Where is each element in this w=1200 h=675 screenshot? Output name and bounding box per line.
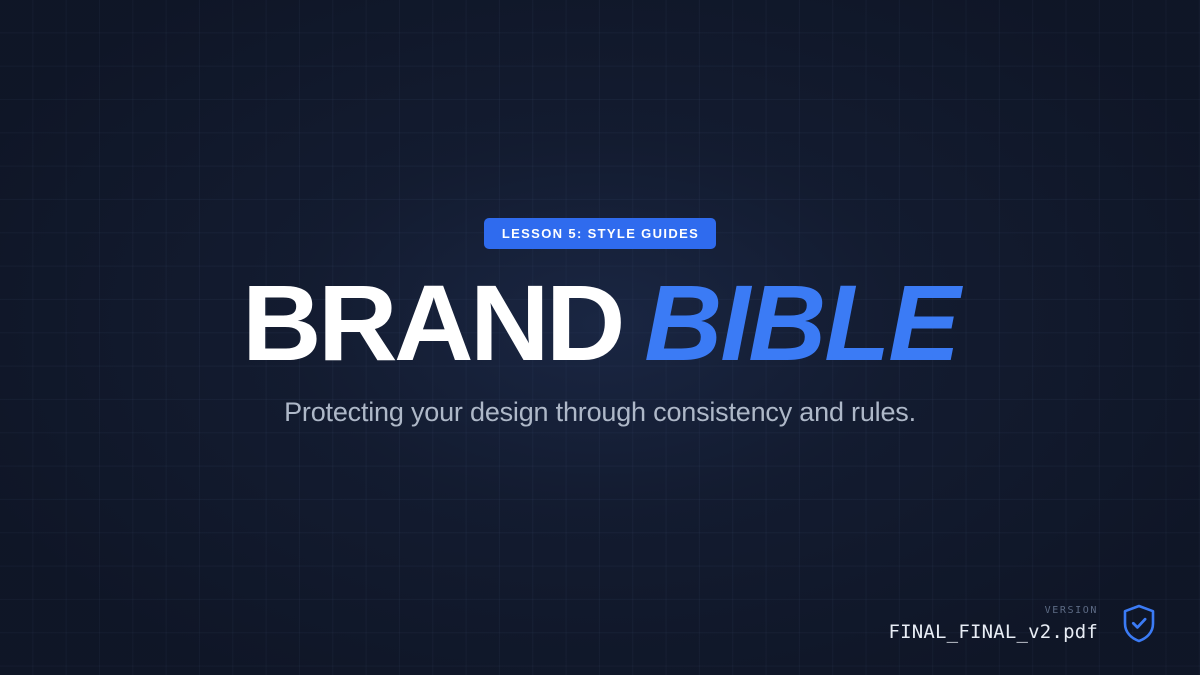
shield-check-icon bbox=[1122, 604, 1156, 643]
presentation-slide: LESSON 5: STYLE GUIDES BRAND BIBLE Prote… bbox=[0, 0, 1200, 675]
slide-content: LESSON 5: STYLE GUIDES BRAND BIBLE Prote… bbox=[0, 218, 1200, 428]
file-name: FINAL_FINAL_v2.pdf bbox=[888, 623, 1098, 642]
title-word-bible: BIBLE bbox=[644, 269, 958, 377]
title-word-brand: BRAND bbox=[242, 269, 622, 377]
lesson-badge: LESSON 5: STYLE GUIDES bbox=[484, 218, 716, 249]
version-meta: VERSION FINAL_FINAL_v2.pdf bbox=[888, 606, 1098, 642]
page-title: BRAND BIBLE bbox=[242, 269, 958, 377]
slide-subtitle: Protecting your design through consisten… bbox=[284, 397, 916, 428]
footer-version-block: VERSION FINAL_FINAL_v2.pdf bbox=[888, 604, 1156, 643]
version-label: VERSION bbox=[1045, 606, 1098, 616]
